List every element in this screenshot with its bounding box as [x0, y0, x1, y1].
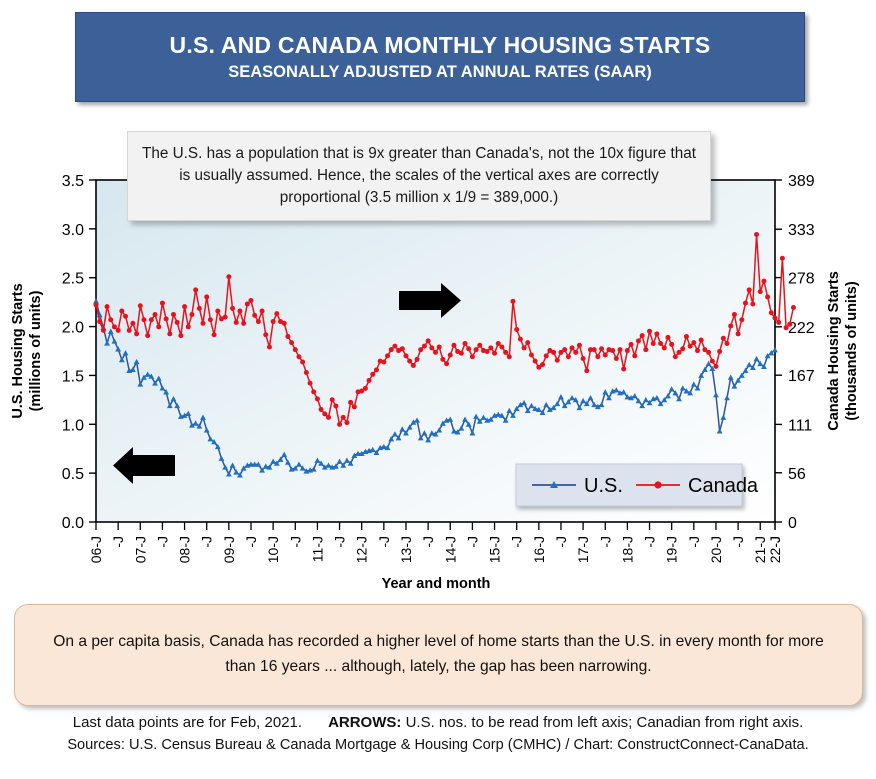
legend-label-us: U.S. — [584, 475, 623, 497]
y-tick-label-left: 2.0 — [62, 320, 84, 337]
page-title: U.S. AND CANADA MONTHLY HOUSING STARTS — [170, 33, 711, 58]
x-tick-label: -J — [199, 536, 215, 548]
x-tick-label: 15-J — [487, 536, 503, 563]
x-tick-label: 12-J — [354, 536, 370, 563]
y-axis-left-title: U.S. Housing Starts (millions of units) — [10, 283, 44, 418]
arrows-label: ARROWS: — [328, 714, 401, 731]
x-tick-label: 19-J — [664, 536, 680, 563]
chart-legend[interactable]: U.S. Canada — [516, 464, 759, 506]
x-tick-label: 09-J — [221, 536, 237, 563]
last-data-note: Last data points are for Feb, 2021. — [73, 714, 302, 731]
x-tick-label: 10-J — [265, 536, 281, 563]
y-tick-label-left: 3.5 — [62, 173, 84, 190]
svg-text:U.S. Housing Starts: U.S. Housing Starts — [10, 283, 26, 418]
x-tick-label: -J — [553, 536, 569, 548]
arrows-note: U.S. nos. to be read from left axis; Can… — [406, 714, 804, 731]
x-tick-label: 20-J — [708, 536, 724, 563]
footer-sources: Sources: U.S. Census Bureau & Canada Mor… — [0, 735, 876, 757]
x-tick-label: -J — [110, 536, 126, 548]
y-tick-label-right: 167 — [788, 368, 815, 385]
svg-text:Canada Housing Starts: Canada Housing Starts — [826, 271, 842, 431]
y-tick-label-left: 3.0 — [62, 222, 84, 239]
scale-note-text: The U.S. has a population that is 9x gre… — [128, 143, 710, 210]
x-tick-label: 13-J — [398, 536, 414, 563]
y-axis-right-title: Canada Housing Starts (thousands of unit… — [826, 271, 860, 431]
x-tick-label: -J — [420, 536, 436, 548]
x-axis-title: Year and month — [382, 576, 491, 592]
x-tick-label: -J — [332, 536, 348, 548]
summary-text: On a per capita basis, Canada has record… — [15, 630, 862, 680]
footer-line-1: Last data points are for Feb, 2021.ARROW… — [0, 712, 876, 735]
x-tick-label: -J — [509, 536, 525, 548]
y-tick-label-right: 56 — [788, 466, 806, 483]
x-tick-label: 22-J — [767, 536, 783, 563]
x-tick-label: -J — [597, 536, 613, 548]
y-axis-left: 0.00.51.01.52.02.53.03.5 — [62, 173, 96, 532]
y-axis-right: 056111167222278333389 — [775, 173, 815, 532]
x-tick-label: -J — [642, 536, 658, 548]
y-tick-label-right: 333 — [788, 222, 815, 239]
x-tick-label: 14-J — [442, 536, 458, 563]
y-tick-label-left: 1.5 — [62, 368, 84, 385]
x-tick-label: -J — [376, 536, 392, 548]
x-tick-label: 06-J — [88, 536, 104, 563]
page-subtitle: SEASONALLY ADJUSTED AT ANNUAL RATES (SAA… — [228, 63, 652, 81]
footer: Last data points are for Feb, 2021.ARROW… — [0, 712, 876, 756]
y-tick-label-left: 2.5 — [62, 271, 84, 288]
x-tick-label: 07-J — [132, 536, 148, 563]
y-tick-label-right: 0 — [788, 515, 797, 532]
x-tick-label: 21-J — [752, 536, 768, 563]
title-banner: U.S. AND CANADA MONTHLY HOUSING STARTS S… — [75, 12, 805, 102]
x-tick-label: -J — [287, 536, 303, 548]
scale-note-callout: The U.S. has a population that is 9x gre… — [127, 131, 711, 221]
x-tick-label: -J — [154, 536, 170, 548]
x-tick-label: -J — [686, 536, 702, 548]
x-tick-label: 08-J — [177, 536, 193, 563]
chart-container: 0.00.51.01.52.02.53.03.5 056111167222278… — [0, 160, 876, 610]
svg-text:(thousands of units): (thousands of units) — [844, 281, 860, 421]
y-tick-label-right: 278 — [788, 271, 815, 288]
x-tick-label: -J — [730, 536, 746, 548]
housing-starts-line-chart: 0.00.51.01.52.02.53.03.5 056111167222278… — [0, 160, 876, 610]
y-tick-label-left: 0.0 — [62, 515, 84, 532]
svg-text:(millions of units): (millions of units) — [28, 290, 44, 411]
x-tick-label: 17-J — [575, 536, 591, 563]
x-tick-label: 18-J — [619, 536, 635, 563]
x-tick-label: -J — [464, 536, 480, 548]
x-tick-label: 11-J — [309, 536, 325, 562]
x-axis: 06-J-J07-J-J08-J-J09-J-J10-J-J11-J-J12-J… — [88, 522, 783, 563]
y-tick-label-left: 1.0 — [62, 417, 84, 434]
x-tick-label: -J — [243, 536, 259, 548]
summary-callout: On a per capita basis, Canada has record… — [14, 604, 863, 706]
legend-label-canada: Canada — [688, 475, 759, 497]
y-tick-label-right: 389 — [788, 173, 815, 190]
x-tick-label: 16-J — [531, 536, 547, 563]
y-tick-label-left: 0.5 — [62, 466, 84, 483]
y-tick-label-right: 222 — [788, 320, 815, 337]
y-tick-label-right: 111 — [788, 417, 812, 434]
